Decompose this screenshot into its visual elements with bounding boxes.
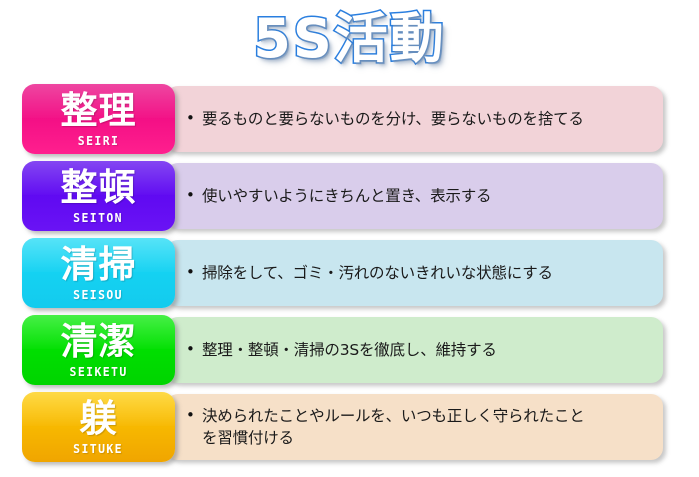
five-s-row: 要るものと要らないものを分け、要らないものを捨てる整理SEIRI bbox=[0, 84, 699, 154]
five-s-row: 掃除をして、ゴミ・汚れのないきれいな状態にする清掃SEISOU bbox=[0, 238, 699, 308]
badge-kanji-label: 清掃 bbox=[61, 246, 137, 283]
badge-romaji-label: SEITON bbox=[74, 210, 124, 225]
description-panel: 決められたことやルールを、いつも正しく守られたことを習慣付ける bbox=[166, 394, 663, 460]
five-s-poster: 5S活動 要るものと要らないものを分け、要らないものを捨てる整理SEIRI使いや… bbox=[0, 0, 699, 477]
description-panel: 整理・整頓・清掃の3Sを徹底し、維持する bbox=[166, 317, 663, 383]
five-s-badge: 整頓SEITON bbox=[22, 161, 175, 231]
description-line: 掃除をして、ゴミ・汚れのないきれいな状態にする bbox=[202, 262, 553, 284]
description-panel: 掃除をして、ゴミ・汚れのないきれいな状態にする bbox=[166, 240, 663, 306]
five-s-badge: 清潔SEIKETU bbox=[22, 315, 175, 385]
badge-kanji-label: 整理 bbox=[61, 92, 137, 129]
badge-kanji-label: 清潔 bbox=[61, 323, 137, 360]
five-s-badge: 清掃SEISOU bbox=[22, 238, 175, 308]
poster-title-area: 5S活動 bbox=[0, 2, 699, 76]
badge-romaji-label: SEIRI bbox=[78, 133, 120, 148]
description-text: 要るものと要らないものを分け、要らないものを捨てる bbox=[188, 108, 584, 130]
description-line: 決められたことやルールを、いつも正しく守られたこと bbox=[202, 405, 585, 427]
five-s-badge: 躾SITUKE bbox=[22, 392, 175, 462]
badge-romaji-label: SEIKETU bbox=[69, 364, 127, 379]
description-panel: 要るものと要らないものを分け、要らないものを捨てる bbox=[166, 86, 663, 152]
description-text: 整理・整頓・清掃の3Sを徹底し、維持する bbox=[188, 339, 497, 361]
description-line: 整理・整頓・清掃の3Sを徹底し、維持する bbox=[202, 339, 497, 361]
description-line: 要るものと要らないものを分け、要らないものを捨てる bbox=[202, 108, 584, 130]
badge-kanji-label: 整頓 bbox=[61, 169, 137, 206]
five-s-row: 決められたことやルールを、いつも正しく守られたことを習慣付ける躾SITUKE bbox=[0, 392, 699, 462]
five-s-row: 使いやすいようにきちんと置き、表示する整頓SEITON bbox=[0, 161, 699, 231]
five-s-row-list: 要るものと要らないものを分け、要らないものを捨てる整理SEIRI使いやすいように… bbox=[0, 84, 699, 469]
badge-romaji-label: SITUKE bbox=[74, 441, 124, 456]
five-s-badge: 整理SEIRI bbox=[22, 84, 175, 154]
description-line: を習慣付ける bbox=[202, 427, 585, 449]
badge-kanji-label: 躾 bbox=[80, 400, 118, 437]
description-line: 使いやすいようにきちんと置き、表示する bbox=[202, 185, 491, 207]
description-panel: 使いやすいようにきちんと置き、表示する bbox=[166, 163, 663, 229]
badge-romaji-label: SEISOU bbox=[74, 287, 124, 302]
five-s-row: 整理・整頓・清掃の3Sを徹底し、維持する清潔SEIKETU bbox=[0, 315, 699, 385]
page-title: 5S活動 bbox=[253, 12, 445, 66]
description-text: 掃除をして、ゴミ・汚れのないきれいな状態にする bbox=[188, 262, 553, 284]
description-text: 使いやすいようにきちんと置き、表示する bbox=[188, 185, 491, 207]
description-text: 決められたことやルールを、いつも正しく守られたことを習慣付ける bbox=[188, 405, 585, 450]
